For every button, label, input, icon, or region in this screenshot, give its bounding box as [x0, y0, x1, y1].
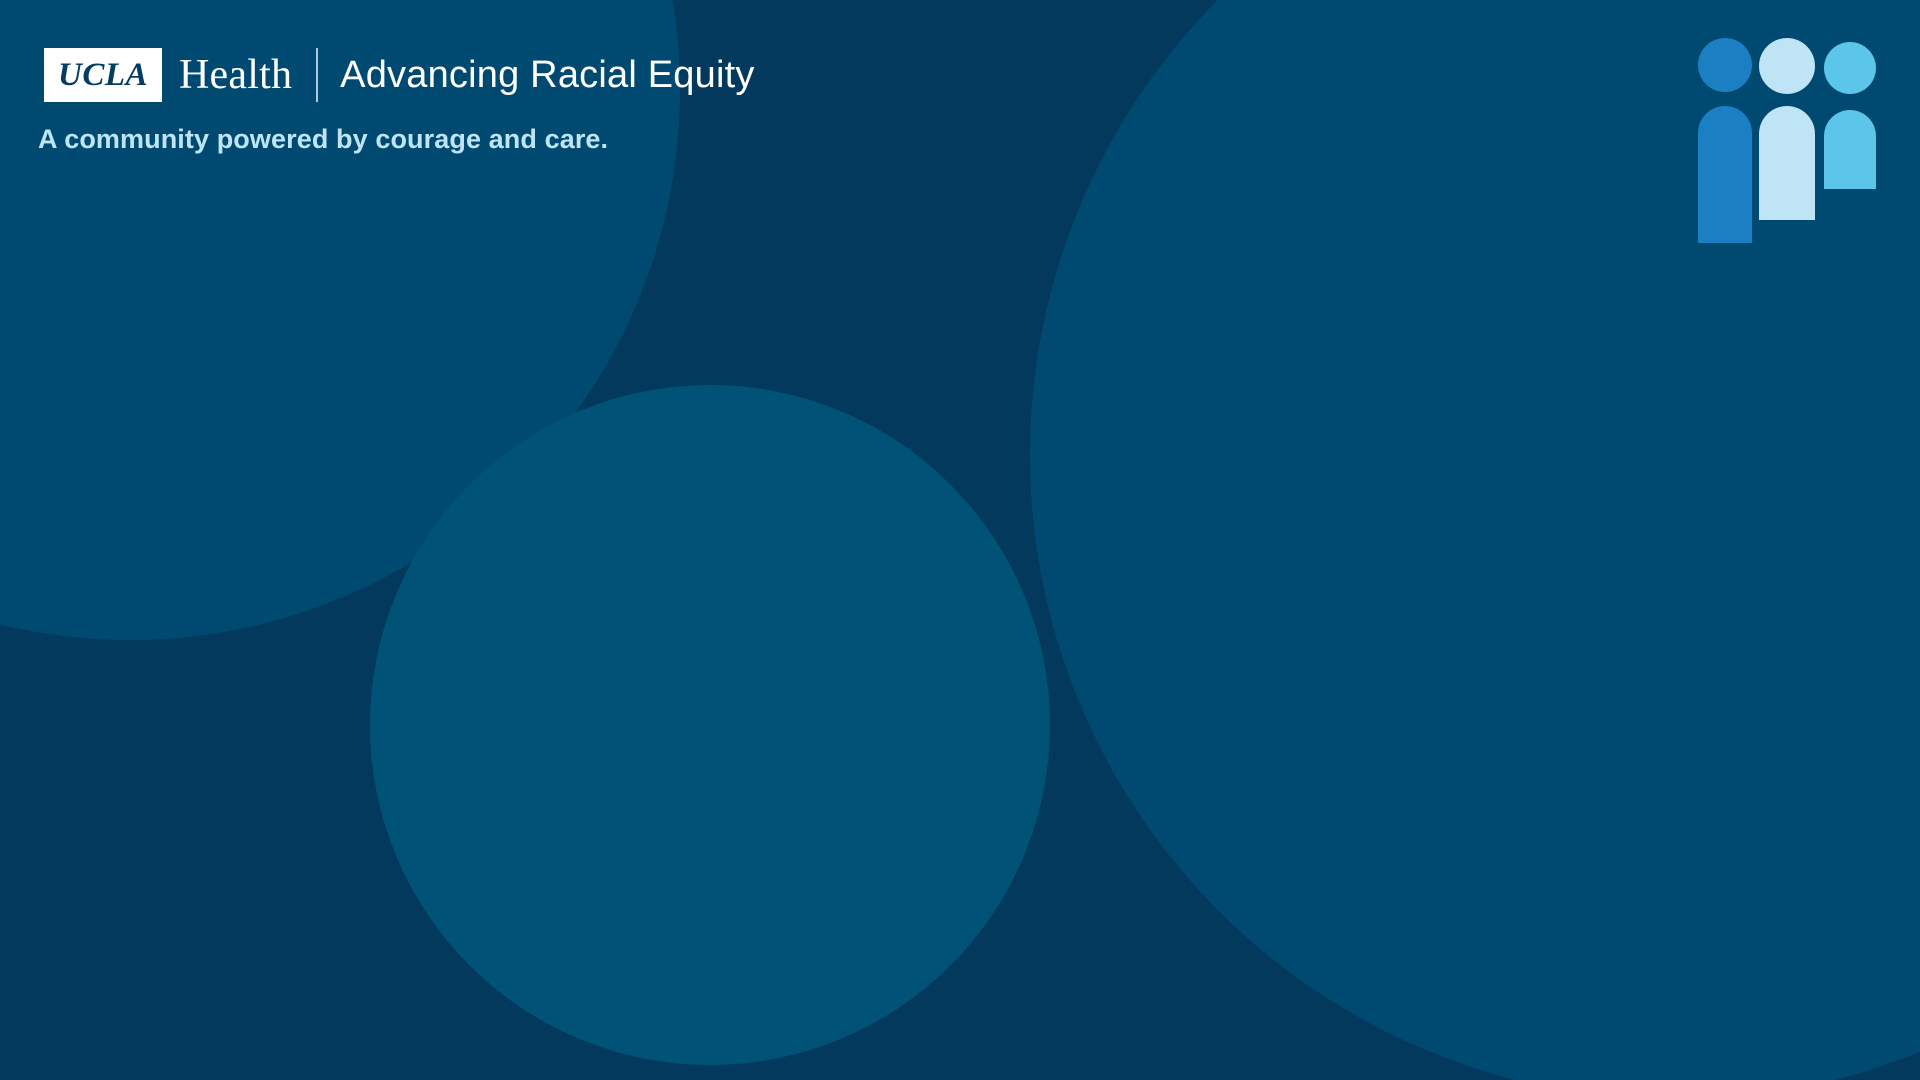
slide-canvas: UCLA Health Advancing Racial Equity A co…	[0, 0, 1920, 1080]
person-right-figure	[1824, 42, 1876, 189]
person-center-figure	[1759, 38, 1815, 220]
ucla-wordmark: UCLA	[44, 48, 162, 102]
brand-lockup: UCLA Health Advancing Racial Equity	[44, 46, 755, 104]
three-people-icon	[1698, 33, 1878, 243]
tagline: A community powered by courage and care.	[38, 124, 608, 155]
brand-divider	[316, 48, 318, 102]
background-decoration	[0, 0, 1920, 1080]
program-title: Advancing Racial Equity	[340, 56, 754, 94]
person-left-figure	[1698, 38, 1752, 243]
health-wordmark: Health	[179, 54, 292, 96]
background-circle-center	[370, 385, 1050, 1065]
